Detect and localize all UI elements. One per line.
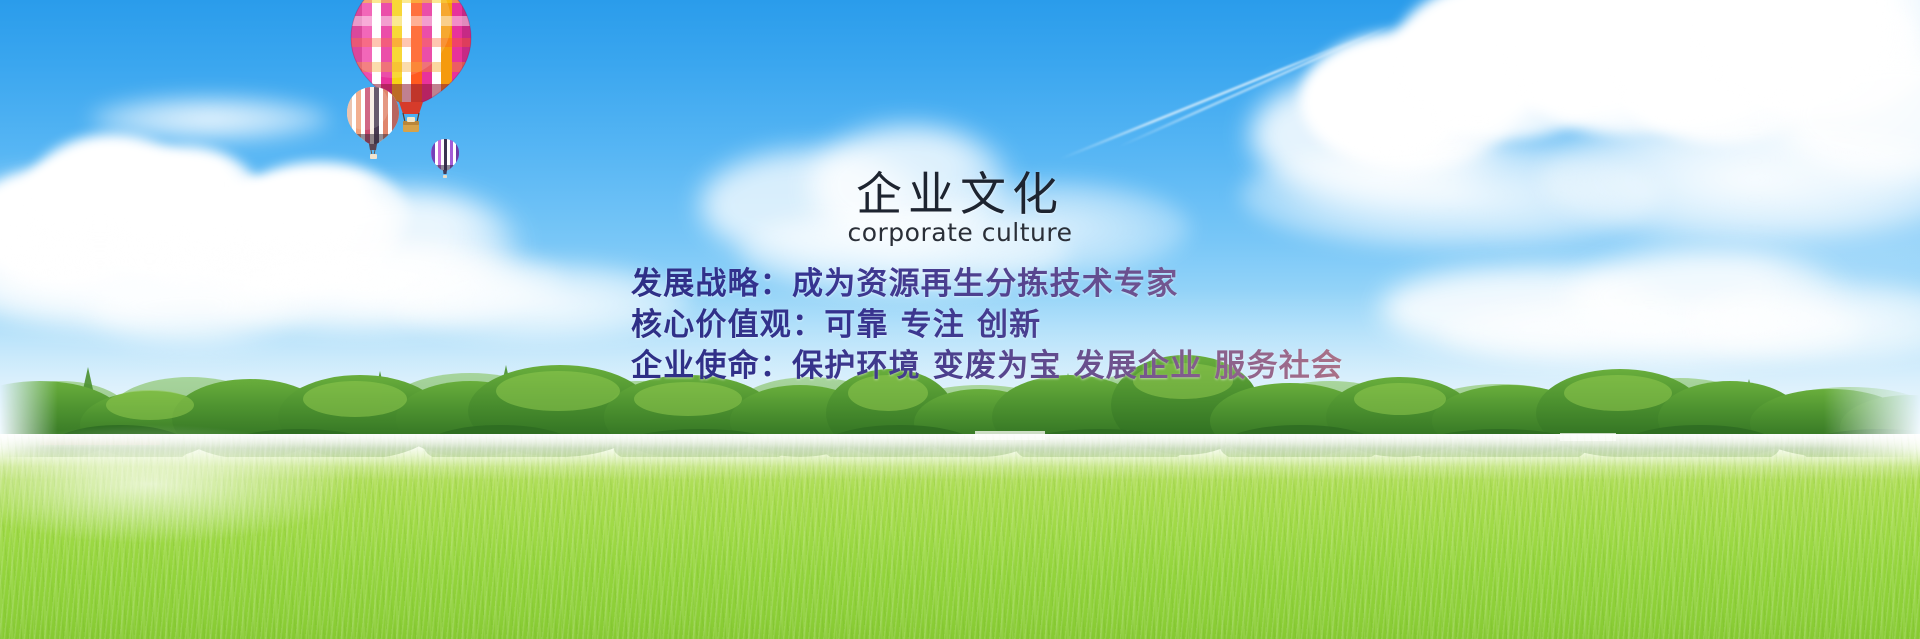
- corporate-culture-banner: 企业文化 corporate culture 发展战略：成为资源再生分拣技术专家…: [0, 0, 1920, 639]
- grass-field: [0, 434, 1920, 639]
- grass-highlight: [0, 424, 360, 544]
